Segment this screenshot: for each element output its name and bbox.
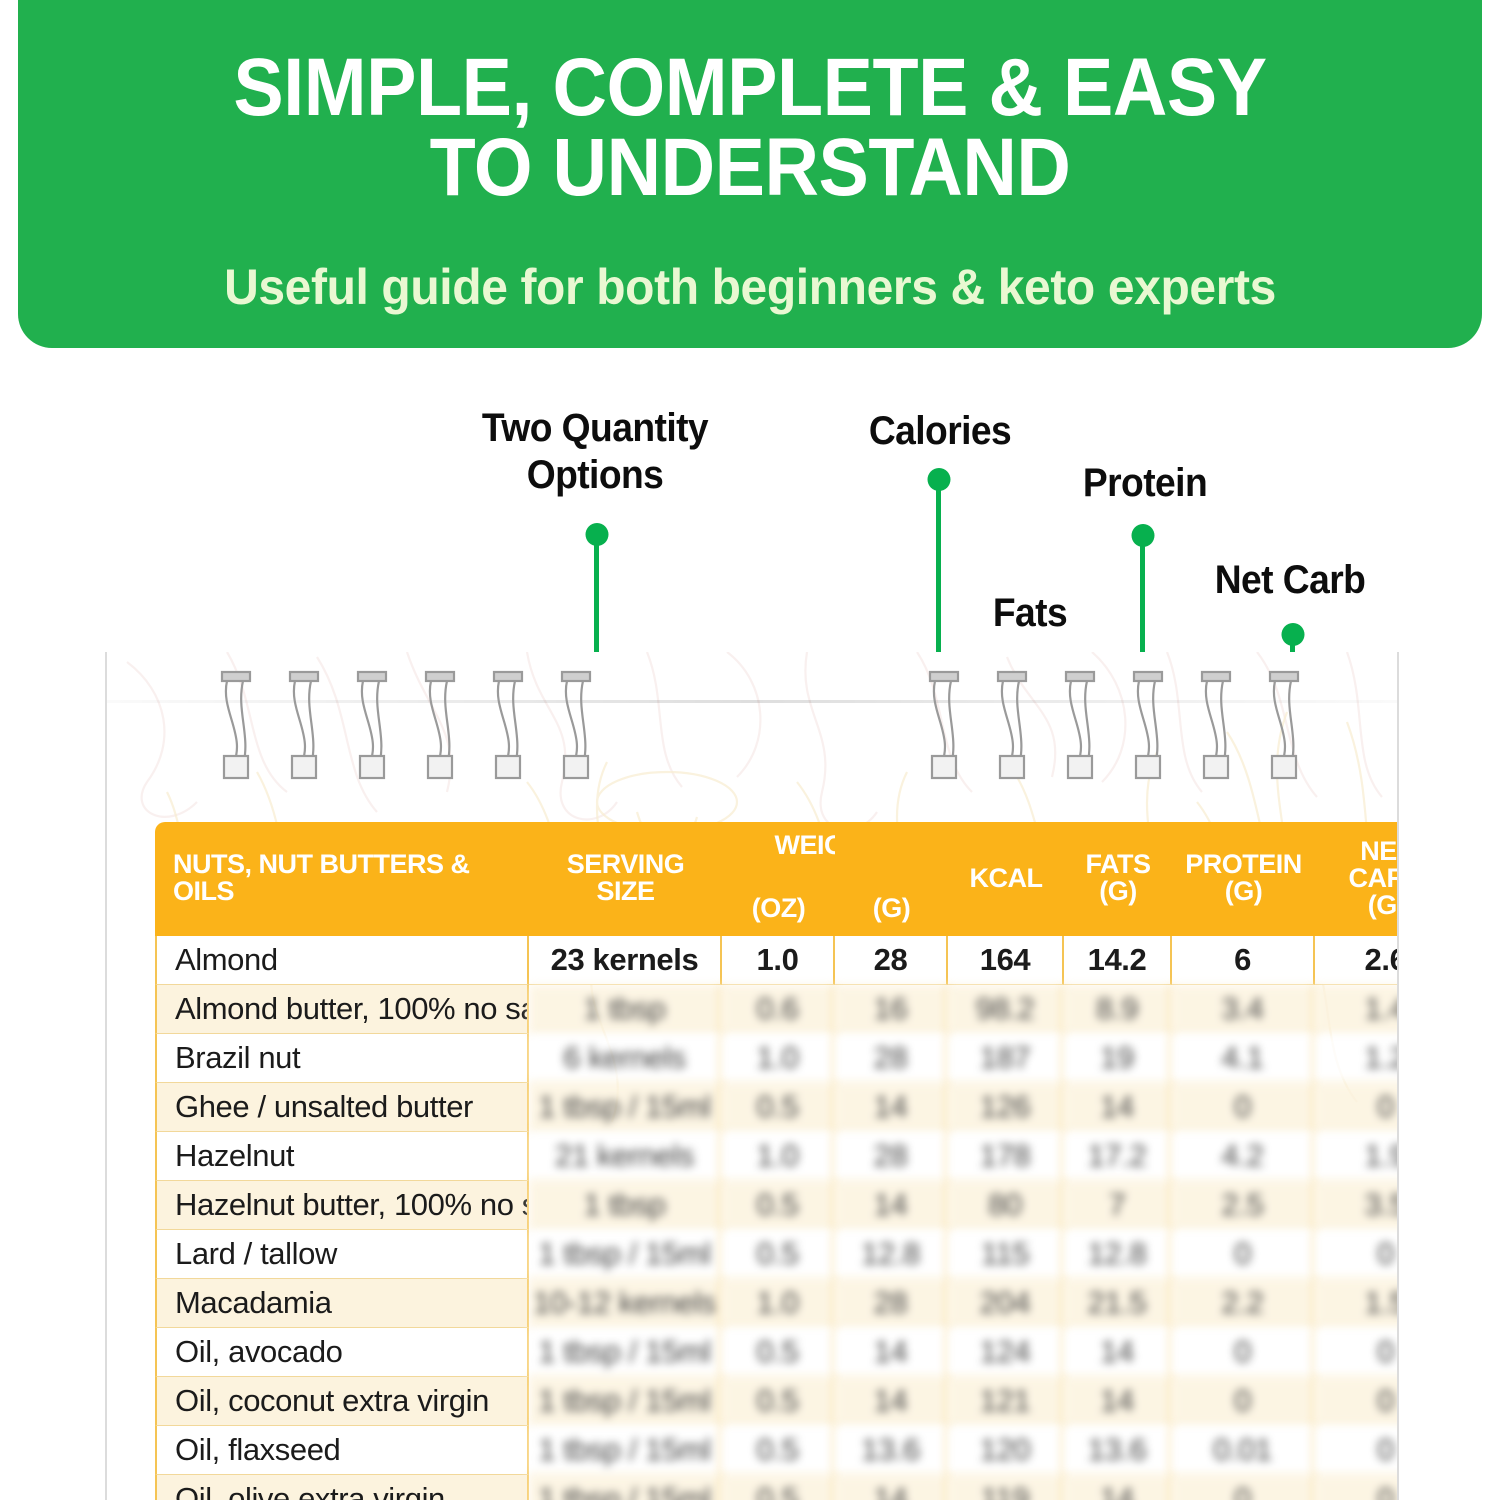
cell-serving-size: 21 kernels <box>529 1132 722 1181</box>
cell-kcal: 164 <box>948 936 1064 985</box>
table-row: Almond23 kernels1.02816414.262.6 <box>155 936 1399 985</box>
spiral-ring <box>491 670 525 782</box>
table-row: Hazelnut21 kernels1.02817817.24.21.9 <box>155 1132 1399 1181</box>
table-row: Lard / tallow1 tbsp / 15ml0.512.811512.8… <box>155 1230 1399 1279</box>
cell-serving-size: 1 tbsp / 15ml <box>529 1328 722 1377</box>
cell-kcal: 119 <box>948 1475 1064 1500</box>
cell-weight-oz: 0.5 <box>722 1328 835 1377</box>
cell-net-carb: 1.4 <box>1315 985 1399 1034</box>
cell-food-name: Oil, flaxseed <box>155 1426 529 1475</box>
table-row: Macadamia10-12 kernels1.02820421.52.21.5 <box>155 1279 1399 1328</box>
cell-weight-oz: 0.6 <box>722 985 835 1034</box>
cell-net-carb: 2.6 <box>1315 936 1399 985</box>
column-header-weight-oz: (OZ)WEIGHT <box>722 822 835 936</box>
cell-net-carb: 1.9 <box>1315 1132 1399 1181</box>
cell-net-carb: 0 <box>1315 1328 1399 1377</box>
spiral-ring <box>1199 670 1233 782</box>
cell-weight-g: 14 <box>835 1475 948 1500</box>
cell-weight-g: 14 <box>835 1328 948 1377</box>
cell-net-carb: 0 <box>1315 1230 1399 1279</box>
callout-label-fats: Fats <box>909 590 1151 637</box>
cell-serving-size: 1 tbsp / 15ml <box>529 1083 722 1132</box>
cell-weight-oz: 0.5 <box>722 1377 835 1426</box>
page-title: SIMPLE, COMPLETE & EASY TO UNDERSTAND <box>77 48 1424 207</box>
cell-serving-size: 1 tbsp <box>529 985 722 1034</box>
notebook-page: NUTS, NUT BUTTERS & OILS SERVING SIZE (O… <box>105 652 1399 1500</box>
cell-kcal: 121 <box>948 1377 1064 1426</box>
cell-weight-g: 28 <box>835 1279 948 1328</box>
callout-label-net-carb: Net Carb <box>1164 557 1415 604</box>
spiral-ring <box>355 670 389 782</box>
cell-fats: 14 <box>1064 1328 1172 1377</box>
column-header-weight-g: (G) <box>835 822 948 936</box>
cell-net-carb: 0 <box>1315 1377 1399 1426</box>
cell-weight-oz: 1.0 <box>722 936 835 985</box>
cell-fats: 7 <box>1064 1181 1172 1230</box>
column-header-food: NUTS, NUT BUTTERS & OILS <box>155 822 529 936</box>
cell-protein: 4.2 <box>1172 1132 1315 1181</box>
spiral-ring <box>1267 670 1301 782</box>
cell-kcal: 204 <box>948 1279 1064 1328</box>
cell-kcal: 178 <box>948 1132 1064 1181</box>
cell-fats: 8.9 <box>1064 985 1172 1034</box>
cell-kcal: 80 <box>948 1181 1064 1230</box>
spiral-ring <box>995 670 1029 782</box>
cell-serving-size: 1 tbsp / 15ml <box>529 1475 722 1500</box>
cell-protein: 2.5 <box>1172 1181 1315 1230</box>
cell-protein: 0 <box>1172 1230 1315 1279</box>
cell-weight-oz: 0.5 <box>722 1083 835 1132</box>
cell-weight-oz: 0.5 <box>722 1181 835 1230</box>
cell-food-name: Almond <box>155 936 529 985</box>
cell-weight-g: 14 <box>835 1083 948 1132</box>
table-head: NUTS, NUT BUTTERS & OILS SERVING SIZE (O… <box>155 822 1399 936</box>
column-header-net-carb: NET CARB (G) <box>1315 822 1399 936</box>
cell-kcal: 98.2 <box>948 985 1064 1034</box>
spiral-ring <box>219 670 253 782</box>
cell-weight-g: 28 <box>835 1034 948 1083</box>
cell-fats: 13.6 <box>1064 1426 1172 1475</box>
cell-food-name: Almond butter, 100% no salt <box>155 985 529 1034</box>
cell-weight-g: 14 <box>835 1377 948 1426</box>
spiral-ring <box>927 670 961 782</box>
cell-food-name: Ghee / unsalted butter <box>155 1083 529 1132</box>
cell-weight-oz: 1.0 <box>722 1132 835 1181</box>
table-row: Ghee / unsalted butter1 tbsp / 15ml0.514… <box>155 1083 1399 1132</box>
cell-protein: 0 <box>1172 1083 1315 1132</box>
cell-net-carb: 0 <box>1315 1426 1399 1475</box>
cell-net-carb: 1.5 <box>1315 1279 1399 1328</box>
cell-weight-g: 13.6 <box>835 1426 948 1475</box>
table-body: Almond23 kernels1.02816414.262.6Almond b… <box>155 936 1399 1500</box>
spiral-ring <box>1131 670 1165 782</box>
cell-weight-g: 28 <box>835 936 948 985</box>
cell-weight-g: 28 <box>835 1132 948 1181</box>
spiral-ring <box>287 670 321 782</box>
cell-fats: 14 <box>1064 1377 1172 1426</box>
cell-kcal: 126 <box>948 1083 1064 1132</box>
nutrition-table-wrapper: NUTS, NUT BUTTERS & OILS SERVING SIZE (O… <box>155 822 1360 1500</box>
cell-serving-size: 1 tbsp / 15ml <box>529 1426 722 1475</box>
cell-protein: 0.01 <box>1172 1426 1315 1475</box>
cell-weight-oz: 0.5 <box>722 1230 835 1279</box>
nutrition-table: NUTS, NUT BUTTERS & OILS SERVING SIZE (O… <box>155 822 1399 1500</box>
cell-protein: 0 <box>1172 1475 1315 1500</box>
cell-serving-size: 23 kernels <box>529 936 722 985</box>
spiral-ring <box>559 670 593 782</box>
cell-weight-g: 12.8 <box>835 1230 948 1279</box>
cell-fats: 14 <box>1064 1475 1172 1500</box>
cell-kcal: 115 <box>948 1230 1064 1279</box>
cell-fats: 17.2 <box>1064 1132 1172 1181</box>
spiral-ring <box>1063 670 1097 782</box>
column-header-serving-size: SERVING SIZE <box>529 822 722 936</box>
column-header-fats: FATS (G) <box>1064 822 1172 936</box>
cell-protein: 0 <box>1172 1328 1315 1377</box>
cell-protein: 2.2 <box>1172 1279 1315 1328</box>
column-header-kcal: KCAL <box>948 822 1064 936</box>
callout-label-calories: Calories <box>791 408 1089 455</box>
cell-serving-size: 1 tbsp / 15ml <box>529 1230 722 1279</box>
cell-food-name: Hazelnut <box>155 1132 529 1181</box>
cell-kcal: 120 <box>948 1426 1064 1475</box>
cell-fats: 12.8 <box>1064 1230 1172 1279</box>
cell-weight-g: 14 <box>835 1181 948 1230</box>
cell-net-carb: 0 <box>1315 1475 1399 1500</box>
cell-fats: 14 <box>1064 1083 1172 1132</box>
callout-label-two-quantity-options: Two Quantity Options <box>442 405 749 499</box>
cell-protein: 0 <box>1172 1377 1315 1426</box>
cell-food-name: Lard / tallow <box>155 1230 529 1279</box>
cell-net-carb: 3.5 <box>1315 1181 1399 1230</box>
cell-food-name: Hazelnut butter, 100% no salt <box>155 1181 529 1230</box>
cell-weight-oz: 1.0 <box>722 1034 835 1083</box>
cell-weight-g: 16 <box>835 985 948 1034</box>
cell-weight-oz: 0.5 <box>722 1475 835 1500</box>
cell-food-name: Oil, olive extra virgin <box>155 1475 529 1500</box>
cell-food-name: Oil, coconut extra virgin <box>155 1377 529 1426</box>
cell-serving-size: 1 tbsp / 15ml <box>529 1377 722 1426</box>
cell-serving-size: 6 kernels <box>529 1034 722 1083</box>
hero-banner: SIMPLE, COMPLETE & EASY TO UNDERSTAND Us… <box>18 0 1482 348</box>
table-row: Hazelnut butter, 100% no salt1 tbsp0.514… <box>155 1181 1399 1230</box>
table-row: Brazil nut6 kernels1.028187194.11.2 <box>155 1034 1399 1083</box>
cell-food-name: Brazil nut <box>155 1034 529 1083</box>
table-row: Almond butter, 100% no salt1 tbsp0.61698… <box>155 985 1399 1034</box>
cell-serving-size: 1 tbsp <box>529 1181 722 1230</box>
cell-protein: 6 <box>1172 936 1315 985</box>
cell-fats: 19 <box>1064 1034 1172 1083</box>
cell-food-name: Oil, avocado <box>155 1328 529 1377</box>
callout-label-protein: Protein <box>1019 460 1270 507</box>
cell-protein: 4.1 <box>1172 1034 1315 1083</box>
cell-fats: 14.2 <box>1064 936 1172 985</box>
table-row: Oil, olive extra virgin1 tbsp / 15ml0.51… <box>155 1475 1399 1500</box>
cell-weight-oz: 0.5 <box>722 1426 835 1475</box>
page-subtitle: Useful guide for both beginners & keto e… <box>47 258 1452 316</box>
table-header-row: NUTS, NUT BUTTERS & OILS SERVING SIZE (O… <box>155 822 1399 936</box>
cell-kcal: 187 <box>948 1034 1064 1083</box>
column-header-protein: PROTEIN (G) <box>1172 822 1315 936</box>
spiral-ring <box>423 670 457 782</box>
cell-food-name: Macadamia <box>155 1279 529 1328</box>
table-row: Oil, flaxseed1 tbsp / 15ml0.513.612013.6… <box>155 1426 1399 1475</box>
cell-net-carb: 0 <box>1315 1083 1399 1132</box>
cell-protein: 3.4 <box>1172 985 1315 1034</box>
cell-net-carb: 1.2 <box>1315 1034 1399 1083</box>
cell-weight-oz: 1.0 <box>722 1279 835 1328</box>
table-row: Oil, avocado1 tbsp / 15ml0.5141241400 <box>155 1328 1399 1377</box>
cell-kcal: 124 <box>948 1328 1064 1377</box>
cell-serving-size: 10-12 kernels <box>529 1279 722 1328</box>
table-row: Oil, coconut extra virgin1 tbsp / 15ml0.… <box>155 1377 1399 1426</box>
cell-fats: 21.5 <box>1064 1279 1172 1328</box>
